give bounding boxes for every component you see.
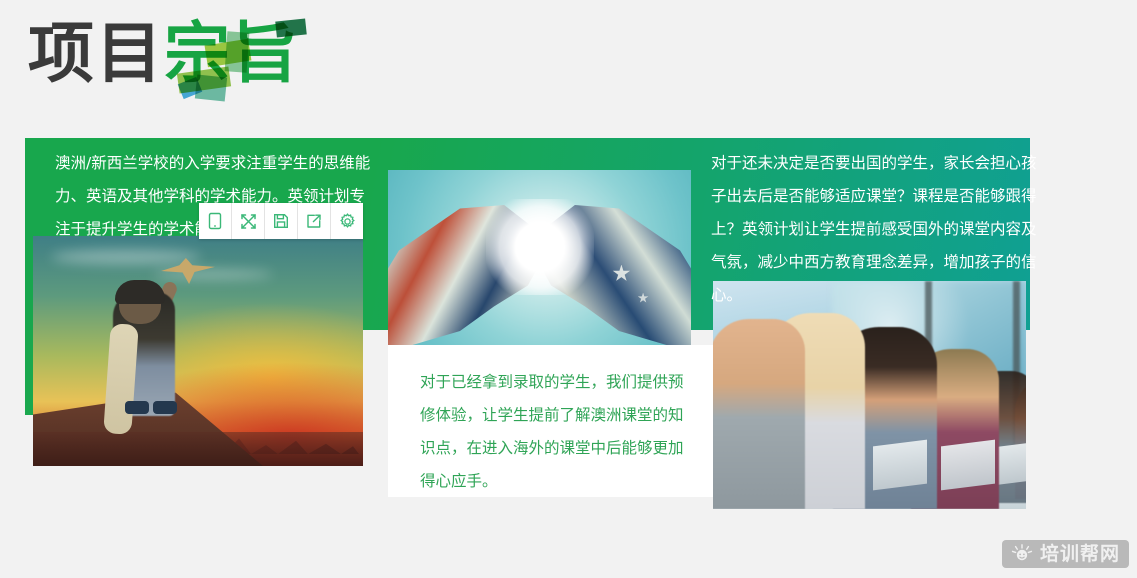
- watermark: 培训帮网: [1002, 540, 1129, 568]
- page-title-dark: 项目: [28, 15, 164, 92]
- page-root: 项目宗旨: [0, 0, 1137, 578]
- student-figure: [713, 319, 805, 509]
- mobile-preview-icon: [207, 212, 223, 230]
- photo-girl-with-plane: [33, 236, 363, 466]
- watermark-text: 培训帮网: [1040, 545, 1120, 564]
- expand-button[interactable]: [232, 203, 265, 239]
- floating-toolbar[interactable]: [199, 203, 363, 239]
- gear-icon: [339, 213, 356, 230]
- share-icon: [306, 213, 322, 229]
- page-title-green: 宗旨: [164, 15, 300, 92]
- girl-shoe: [153, 401, 177, 414]
- sun-face-icon: [1011, 543, 1033, 565]
- laptop-icon: [873, 440, 927, 491]
- page-title: 项目宗旨: [28, 12, 300, 96]
- girl-shoe: [125, 401, 149, 414]
- photo-heart-hands: [388, 170, 691, 345]
- middle-text-block: 对于已经拿到录取的学生，我们提供预修体验，让学生提前了解澳洲课堂的知识点，在进入…: [420, 366, 688, 498]
- photo-classroom-students: [713, 281, 1026, 509]
- heart-glow: [486, 199, 594, 295]
- rooftop-base: [33, 432, 363, 466]
- laptop-icon: [941, 440, 995, 491]
- mobile-preview-button[interactable]: [199, 203, 232, 239]
- share-button[interactable]: [298, 203, 331, 239]
- girl-cap: [115, 280, 165, 304]
- save-icon: [273, 213, 289, 229]
- expand-icon: [240, 213, 257, 230]
- save-button[interactable]: [265, 203, 298, 239]
- cloud-icon: [51, 250, 201, 264]
- settings-button[interactable]: [331, 203, 363, 239]
- right-text-block: 对于还未决定是否要出国的学生，家长会担心孩子出去后是否能够适应课堂？课程是否能够…: [711, 147, 1041, 312]
